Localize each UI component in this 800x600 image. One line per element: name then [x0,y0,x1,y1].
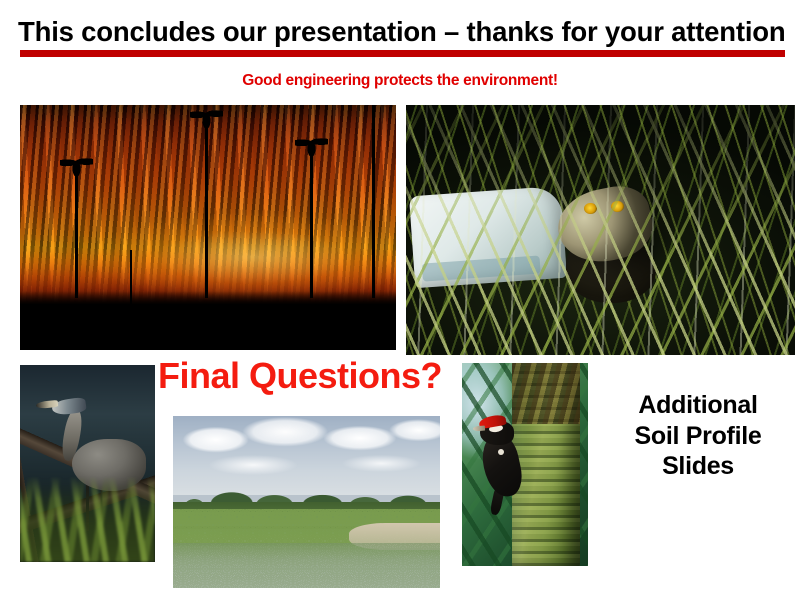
heron-foreground-grass [20,476,155,562]
final-questions-callout: Final Questions? [158,357,458,395]
palm-trunk-bark [512,363,580,424]
additional-slides-line-2: Soil Profile [600,421,796,452]
utility-pole-silhouette [130,250,132,310]
additional-slides-line-1: Additional [600,390,796,421]
slide-title: This concludes our presentation – thanks… [18,16,786,48]
title-divider-rule [20,50,785,57]
photo-pileated-woodpecker [462,363,588,566]
photo-tortoise-plastic-litter [406,105,795,355]
slide-subtitle: Good engineering protects the environmen… [0,72,800,90]
presentation-slide: This concludes our presentation – thanks… [0,0,800,600]
photo-great-blue-heron [20,365,155,562]
additional-slides-label: Additional Soil Profile Slides [600,390,796,482]
woodpecker-bill [473,426,485,432]
palm-silhouette [75,168,78,298]
palm-silhouette [372,105,375,298]
marsh-water-reflections [173,543,440,588]
tortoise-foreground-grass [406,105,795,355]
palm-silhouette [310,148,313,298]
palm-silhouette [205,120,208,298]
additional-slides-line-3: Slides [600,451,796,482]
woodpecker-wing-spot [498,449,504,455]
photo-sunset-palms [20,105,396,350]
photo-wetland-marsh [173,416,440,588]
